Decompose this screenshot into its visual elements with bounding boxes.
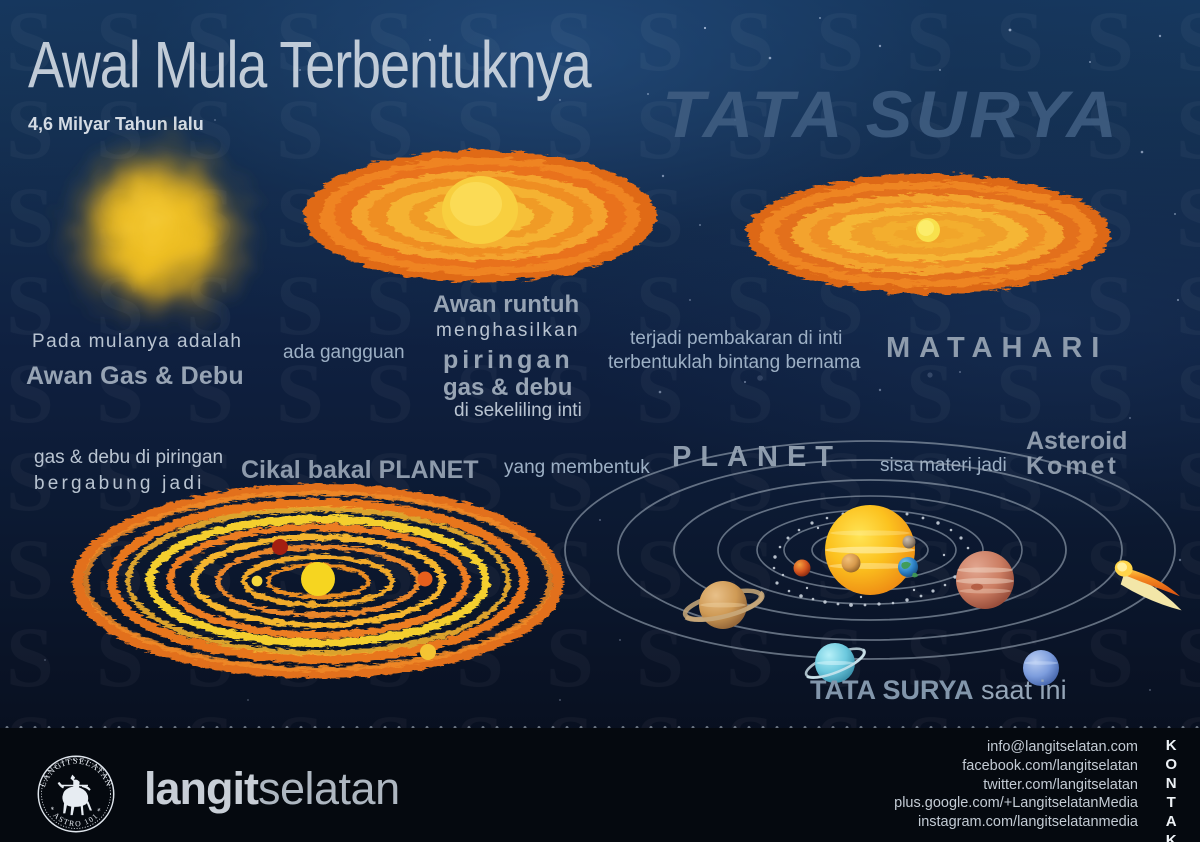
caption-ignition-line1: terjadi pembakaran di inti [630,328,842,350]
kontak-letter: A [1165,812,1178,831]
contact-gplus[interactable]: plus.google.com/+LangitselatanMedia [894,794,1138,813]
protoplanetary-disk-illustration [300,138,660,288]
label-tata-surya-saat-ini: TATA SURYA saat ini [810,675,1067,706]
langitselatan-wordmark: langitselatan [144,763,400,815]
caption-collapse-line4: gas & debu [443,374,572,402]
sun-icon [825,505,915,595]
gas-dust-cloud-illustration [18,110,308,360]
label-komet: Komet [1026,452,1119,481]
contact-facebook[interactable]: facebook.com/langitselatan [894,757,1138,776]
contact-email[interactable]: info@langitselatan.com [894,738,1138,757]
kontak-vertical-label: KONTAK [1165,736,1178,842]
accretion-disk-with-star-illustration [742,168,1122,308]
caption-ignition-line2: terbentuklah bintang bernama [608,352,860,374]
caption-collapse-line1: Awan runtuh [433,291,579,319]
venus-icon [842,554,861,573]
label-cikal-bakal-planet: Cikal bakal PLANET [241,456,479,485]
label-matahari: MATAHARI [886,332,1108,365]
comet-icon [1108,558,1191,611]
kontak-letter: K [1165,831,1178,842]
caption-collapse-line3: piringan [443,346,574,375]
kontak-letter: N [1165,774,1178,793]
wordmark-bold: langit [144,763,258,814]
saturn-icon [682,581,764,629]
caption-accretion-line1: gas & debu di piringan [34,447,223,469]
caption-cloud-line2: Awan Gas & Debu [26,362,244,391]
jupiter-icon [956,551,1014,609]
caption-accretion-line2: bergabung jadi [34,473,205,495]
caption-sisa-materi: sisa materi jadi [880,455,1007,477]
label-now-bold: TATA SURYA [810,675,974,705]
wordmark-light: selatan [258,763,400,814]
contact-twitter[interactable]: twitter.com/langitselatan [894,776,1138,795]
caption-yang-membentuk: yang membentuk [504,457,650,479]
proto-planetary-system-illustration [70,505,580,705]
contact-list: info@langitselatan.com facebook.com/lang… [894,738,1138,832]
mars-icon [794,560,811,577]
label-now-light: saat ini [974,675,1067,705]
big-title-tata-surya: TATA SURYA [662,76,1120,152]
solar-system-today-illustration [655,495,1200,700]
footer-divider [0,726,1200,728]
langitselatan-seal-logo: LANGITSELATAN * ASTRO 101 * [30,748,122,840]
infographic-poster: S Awal Mula Terbentuknya 4,6 [0,0,1200,842]
contact-instagram[interactable]: instagram.com/langitselatanmedia [894,813,1138,832]
mercury-icon [903,536,916,549]
caption-collapse-line5: di sekeliling inti [454,400,582,422]
caption-collapse-line2: menghasilkan [436,320,580,342]
caption-disturbance: ada gangguan [283,342,405,364]
centaur-archer-icon [58,775,92,815]
caption-cloud-line1: Pada mulanya adalah [32,331,242,353]
kontak-letter: K [1165,736,1178,755]
kontak-letter: O [1165,755,1178,774]
kontak-letter: T [1165,793,1178,812]
page-title: Awal Mula Terbentuknya [28,26,591,103]
